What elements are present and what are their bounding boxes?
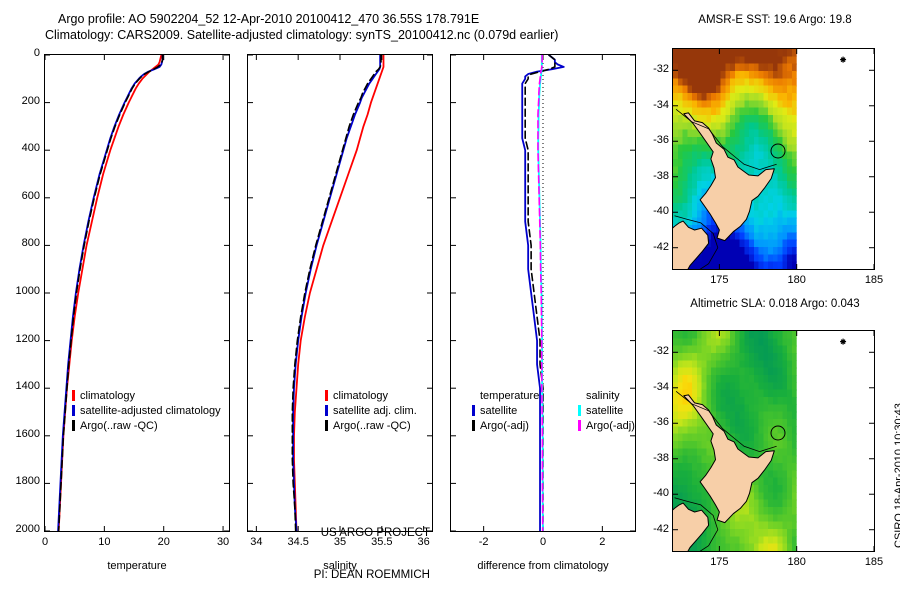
legend-entry: Argo(-adj)	[578, 418, 635, 433]
salinity-panel	[247, 54, 433, 532]
map-lon-tick-label: 185	[857, 556, 891, 568]
legend-entry: salinity	[578, 388, 635, 403]
legend-color-swatch	[72, 405, 75, 416]
temperature-panel	[44, 54, 230, 532]
legend-entry-label: climatology	[333, 390, 388, 402]
axis-tick-label: 10	[87, 536, 121, 548]
map-lat-tick-label: -42	[641, 241, 669, 253]
axis-tick-label: 0	[526, 536, 560, 548]
map-lat-tick-label: -32	[641, 63, 669, 75]
axis-tick-label: 34	[239, 536, 273, 548]
map-lat-tick-label: -42	[641, 523, 669, 535]
axis-tick-label: 200	[0, 95, 40, 107]
difference-legend-salinity: salinitysatelliteArgo(-adj)	[578, 388, 635, 433]
legend-entry-label: Argo(-adj)	[586, 420, 635, 432]
salinity-plot	[248, 55, 432, 531]
legend-entry: temperature	[472, 388, 539, 403]
map-lon-tick-label: 180	[780, 556, 814, 568]
axis-tick-label: 800	[0, 237, 40, 249]
legend-entry: climatology	[325, 388, 417, 403]
figure-title-line2: Climatology: CARS2009. Satellite-adjuste…	[45, 28, 558, 43]
difference-axis-label: difference from climatology	[440, 560, 646, 572]
figure-title-line1: Argo profile: AO 5902204_52 12-Apr-2010 …	[58, 12, 479, 27]
map-lat-tick-label: -38	[641, 170, 669, 182]
map-lon-tick-label: 185	[857, 274, 891, 286]
legend-entry: Argo(..raw -QC)	[325, 418, 417, 433]
legend-color-swatch	[72, 390, 75, 401]
sla-map-plot	[673, 331, 874, 551]
legend-entry-label: satellite-adjusted climatology	[80, 405, 221, 417]
legend-entry: climatology	[72, 388, 230, 403]
legend-entry: satellite-adjusted climatology	[72, 403, 230, 418]
map-lon-tick-label: 180	[780, 274, 814, 286]
map-lat-tick-label: -34	[641, 381, 669, 393]
sla-map-panel	[672, 330, 875, 552]
map-lat-tick-label: -38	[641, 452, 669, 464]
temperature-axis-label: temperature	[44, 560, 230, 572]
legend-entry-label: Argo(..raw -QC)	[80, 420, 158, 432]
legend-entry-label: Argo(-adj)	[480, 420, 529, 432]
axis-tick-label: 0	[28, 536, 62, 548]
legend-color-swatch	[578, 390, 581, 401]
axis-tick-label: 400	[0, 142, 40, 154]
map-lat-tick-label: -36	[641, 134, 669, 146]
axis-tick-label: 20	[147, 536, 181, 548]
difference-plot	[451, 55, 635, 531]
sst-map-title: AMSR-E SST: 19.6 Argo: 19.8	[655, 14, 895, 26]
map-lat-tick-label: -40	[641, 205, 669, 217]
legend-color-swatch	[472, 390, 475, 401]
legend-entry-label: satellite	[586, 405, 623, 417]
legend-color-swatch	[325, 420, 328, 431]
axis-tick-label: 1000	[0, 285, 40, 297]
legend-entry-label: climatology	[80, 390, 135, 402]
legend-color-swatch	[72, 420, 75, 431]
legend-entry: Argo(..raw -QC)	[72, 418, 230, 433]
map-lat-tick-label: -40	[641, 487, 669, 499]
map-lon-tick-label: 175	[702, 274, 736, 286]
legend-color-swatch	[578, 420, 581, 431]
legend-entry-label: satellite	[480, 405, 517, 417]
axis-tick-label: 600	[0, 190, 40, 202]
axis-tick-label: -2	[467, 536, 501, 548]
legend-color-swatch	[472, 405, 475, 416]
axis-tick-label: 0	[0, 47, 40, 59]
legend-entry-label: salinity	[586, 390, 620, 402]
map-lat-tick-label: -34	[641, 99, 669, 111]
axis-tick-label: 30	[206, 536, 240, 548]
axis-tick-label: 1800	[0, 475, 40, 487]
map-lat-tick-label: -32	[641, 345, 669, 357]
legend-entry-label: satellite adj. clim.	[333, 405, 417, 417]
temperature-legend: climatologysatellite-adjusted climatolog…	[72, 388, 230, 433]
temperature-plot	[45, 55, 229, 531]
axis-tick-label: 2000	[0, 523, 40, 535]
figure-root: Argo profile: AO 5902204_52 12-Apr-2010 …	[0, 0, 900, 580]
legend-entry: satellite adj. clim.	[325, 403, 417, 418]
legend-color-swatch	[325, 405, 328, 416]
difference-panel	[450, 54, 636, 532]
project-credit: US ARGO PROJECT PI: DEAN ROEMMICH	[300, 498, 430, 610]
difference-legend-temperature: temperaturesatelliteArgo(-adj)	[472, 388, 539, 433]
axis-tick-label: 2	[585, 536, 619, 548]
legend-entry: satellite	[472, 403, 539, 418]
legend-color-swatch	[472, 420, 475, 431]
csiro-timestamp: CSIRO 18-Apr-2010 10:30:43	[893, 403, 900, 548]
legend-entry-label: Argo(..raw -QC)	[333, 420, 411, 432]
sst-map-plot	[673, 49, 874, 269]
legend-entry: Argo(-adj)	[472, 418, 539, 433]
project-credit-line1: US ARGO PROJECT	[300, 526, 430, 540]
axis-tick-label: 1400	[0, 380, 40, 392]
salinity-legend: climatologysatellite adj. clim.Argo(..ra…	[325, 388, 417, 433]
legend-entry: satellite	[578, 403, 635, 418]
map-lat-tick-label: -36	[641, 416, 669, 428]
map-lon-tick-label: 175	[702, 556, 736, 568]
legend-color-swatch	[325, 390, 328, 401]
legend-entry-label: temperature	[480, 390, 539, 402]
axis-tick-label: 1600	[0, 428, 40, 440]
axis-tick-label: 1200	[0, 333, 40, 345]
sla-map-title: Altimetric SLA: 0.018 Argo: 0.043	[650, 298, 900, 310]
legend-color-swatch	[578, 405, 581, 416]
sst-map-panel	[672, 48, 875, 270]
